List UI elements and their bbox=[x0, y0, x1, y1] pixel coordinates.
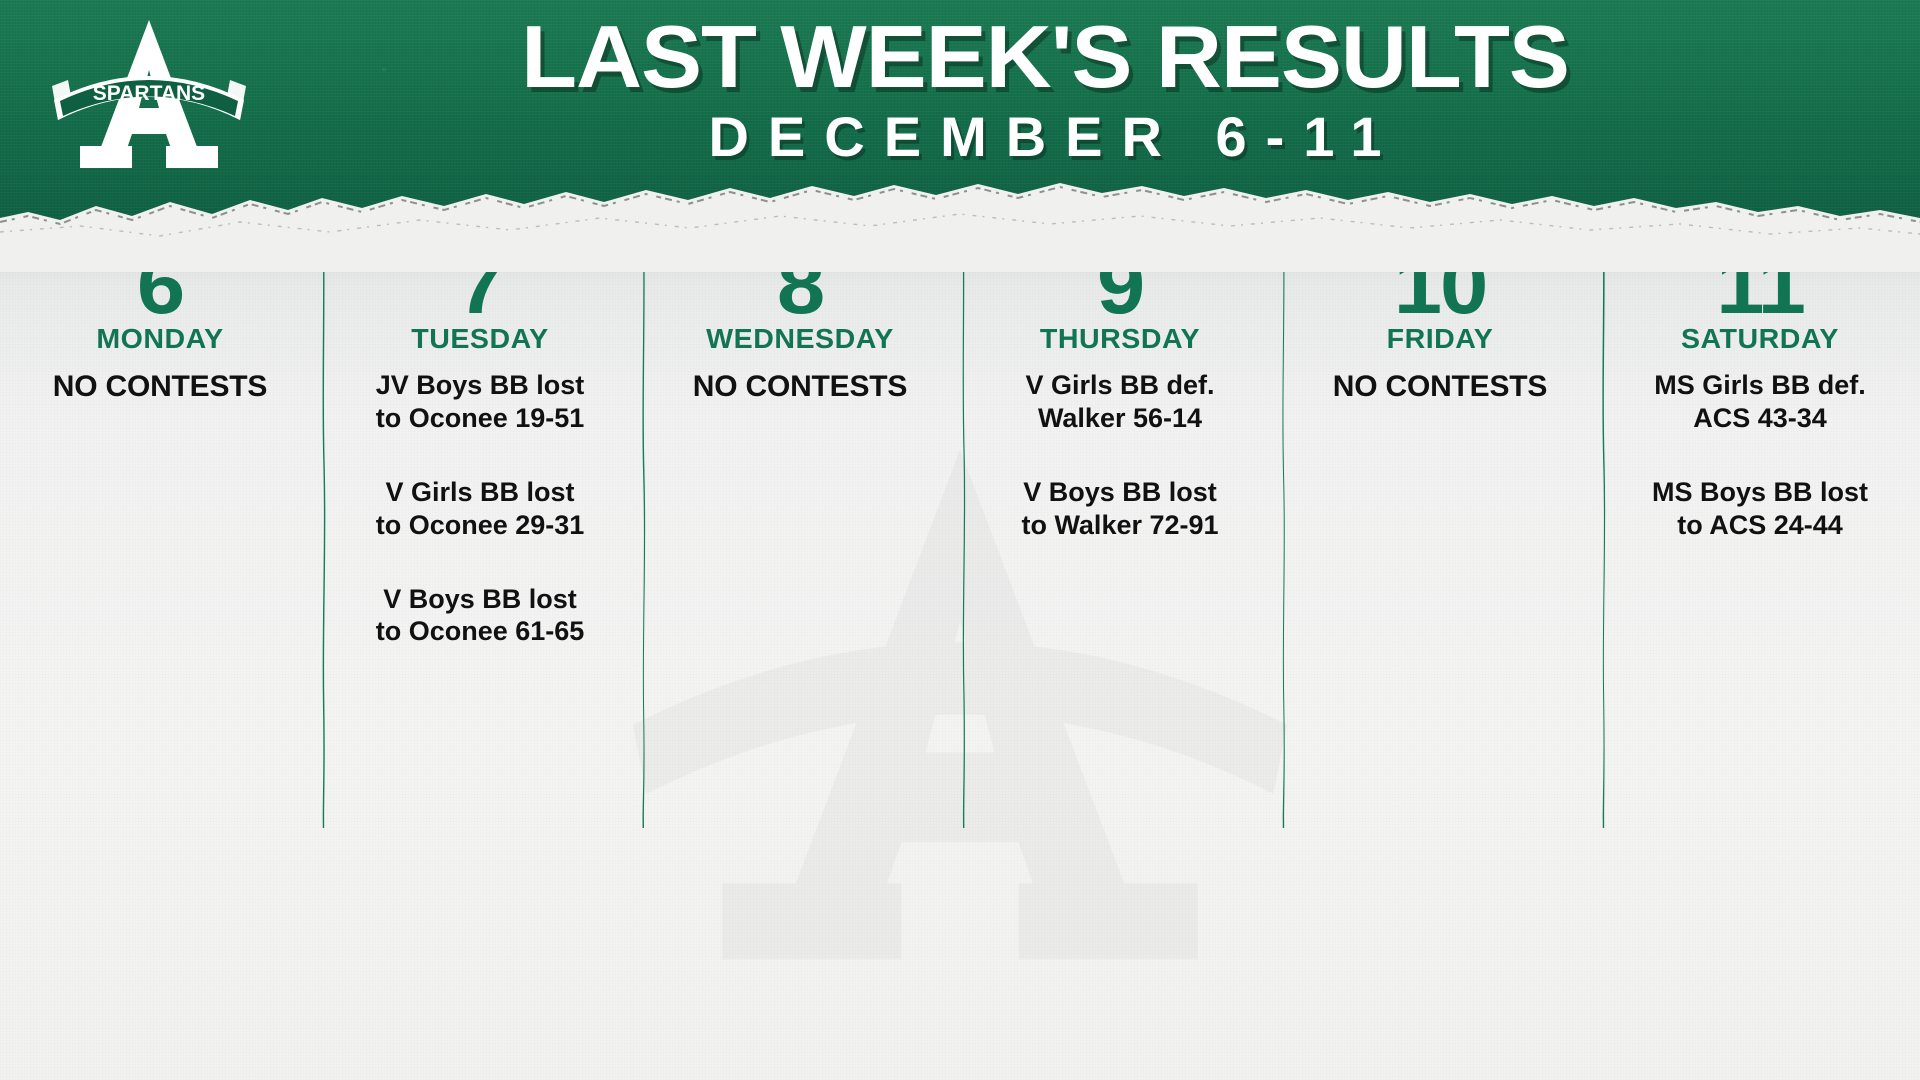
events-saturday: MS Girls BB def. ACS 43-34 MS Boys BB lo… bbox=[1600, 369, 1920, 541]
results-poster: SPARTANS LAST WEEK'S RESULTS DECEMBER 6-… bbox=[0, 0, 1920, 1080]
day-name-friday: FRIDAY bbox=[1277, 325, 1603, 353]
day-column-thursday: 9 THURSDAY V Girls BB def. Walker 56-14 … bbox=[960, 228, 1280, 1080]
event-item: JV Boys BB lost to Oconee 19-51 bbox=[332, 369, 628, 434]
day-name-tuesday: TUESDAY bbox=[317, 325, 643, 353]
day-number-wednesday: 8 bbox=[630, 248, 969, 323]
page-title: LAST WEEK'S RESULTS bbox=[249, 12, 1840, 102]
event-item: V Boys BB lost to Oconee 61-65 bbox=[332, 583, 628, 648]
date-range-subtitle: DECEMBER 6-11 bbox=[280, 108, 1810, 167]
event-item: NO CONTESTS bbox=[12, 369, 308, 405]
poster-header: SPARTANS LAST WEEK'S RESULTS DECEMBER 6-… bbox=[0, 0, 1920, 232]
events-thursday: V Girls BB def. Walker 56-14 V Boys BB l… bbox=[960, 369, 1280, 541]
events-wednesday: NO CONTESTS bbox=[640, 369, 960, 405]
event-item: V Girls BB def. Walker 56-14 bbox=[972, 369, 1268, 434]
day-column-tuesday: 7 TUESDAY JV Boys BB lost to Oconee 19-5… bbox=[320, 228, 640, 1080]
events-tuesday: JV Boys BB lost to Oconee 19-51 V Girls … bbox=[320, 369, 640, 647]
title-block: LAST WEEK'S RESULTS DECEMBER 6-11 bbox=[280, 12, 1810, 167]
events-monday: NO CONTESTS bbox=[0, 369, 320, 405]
events-friday: NO CONTESTS bbox=[1280, 369, 1600, 405]
day-name-wednesday: WEDNESDAY bbox=[637, 325, 963, 353]
day-number-thursday: 9 bbox=[950, 248, 1289, 323]
event-item: NO CONTESTS bbox=[1292, 369, 1588, 405]
event-item: MS Girls BB def. ACS 43-34 bbox=[1612, 369, 1908, 434]
spartans-logo: SPARTANS bbox=[34, 8, 264, 188]
week-grid: 6 MONDAY NO CONTESTS 7 TUESDAY JV Boys B… bbox=[0, 228, 1920, 1080]
day-number-saturday: 11 bbox=[1590, 248, 1920, 323]
event-item: V Girls BB lost to Oconee 29-31 bbox=[332, 476, 628, 541]
day-number-friday: 10 bbox=[1270, 248, 1609, 323]
day-column-saturday: 11 SATURDAY MS Girls BB def. ACS 43-34 M… bbox=[1600, 228, 1920, 1080]
day-column-monday: 6 MONDAY NO CONTESTS bbox=[0, 228, 320, 1080]
day-column-wednesday: 8 WEDNESDAY NO CONTESTS bbox=[640, 228, 960, 1080]
svg-text:SPARTANS: SPARTANS bbox=[93, 82, 205, 105]
day-number-monday: 6 bbox=[0, 248, 330, 323]
day-column-friday: 10 FRIDAY NO CONTESTS bbox=[1280, 228, 1600, 1080]
day-name-monday: MONDAY bbox=[0, 325, 323, 353]
event-item: NO CONTESTS bbox=[652, 369, 948, 405]
poster-body: 6 MONDAY NO CONTESTS 7 TUESDAY JV Boys B… bbox=[0, 228, 1920, 1080]
day-number-tuesday: 7 bbox=[310, 248, 649, 323]
event-item: V Boys BB lost to Walker 72-91 bbox=[972, 476, 1268, 541]
day-name-thursday: THURSDAY bbox=[957, 325, 1283, 353]
day-name-saturday: SATURDAY bbox=[1597, 325, 1920, 353]
event-item: MS Boys BB lost to ACS 24-44 bbox=[1612, 476, 1908, 541]
